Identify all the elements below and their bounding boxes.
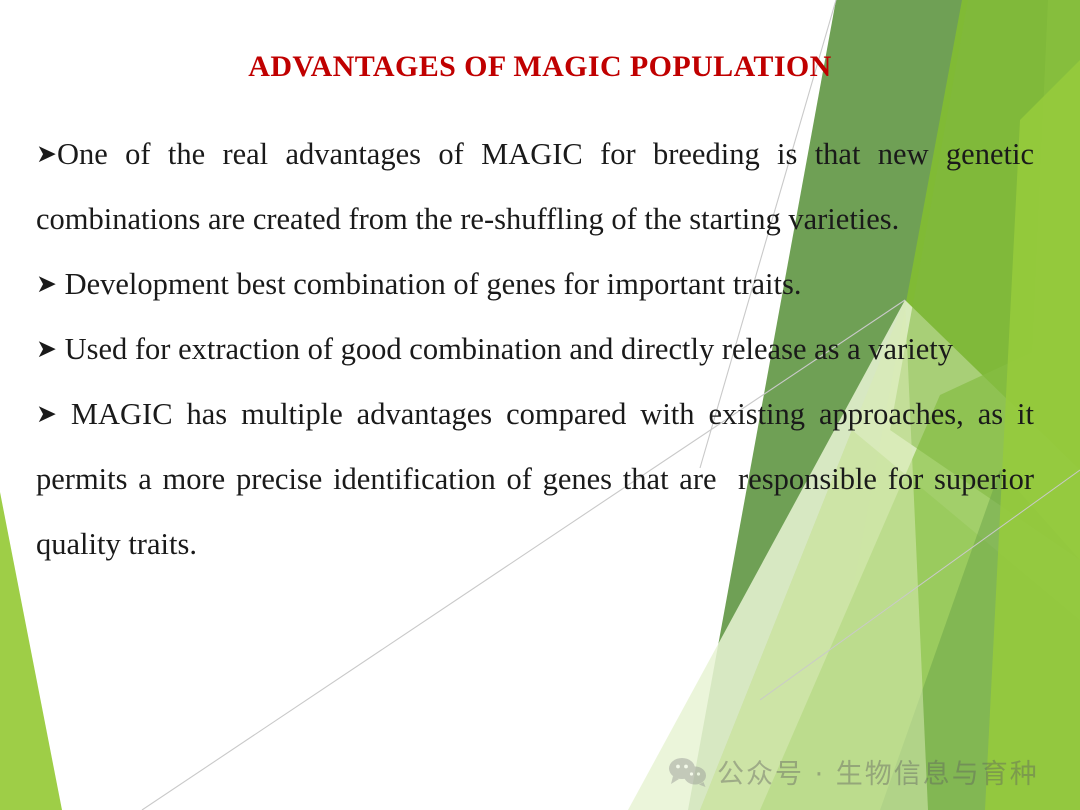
bullet-text-3: Used for extraction of good combination …	[57, 332, 953, 366]
bullet-paragraph-1: ➤One of the real advantages of MAGIC for…	[36, 122, 1034, 252]
slide-canvas: ADVANTAGES OF MAGIC POPULATION ➤One of t…	[0, 0, 1080, 810]
bullet-marker-icon: ➤	[36, 399, 57, 428]
bullet-paragraph-2: ➤ Development best combination of genes …	[36, 252, 1034, 317]
page-title: ADVANTAGES OF MAGIC POPULATION	[0, 50, 1080, 84]
bullet-text-4: MAGIC has multiple advantages compared w…	[36, 397, 1042, 561]
bullet-marker-icon: ➤	[36, 334, 57, 363]
body-content: ➤One of the real advantages of MAGIC for…	[36, 122, 1034, 577]
bullet-paragraph-4: ➤ MAGIC has multiple advantages compared…	[36, 382, 1034, 577]
bullet-text-2: Development best combination of genes fo…	[57, 267, 802, 301]
watermark: 公众号 · 生物信息与育种	[668, 752, 1039, 791]
bullet-text-1: One of the real advantages of MAGIC for …	[36, 137, 1042, 236]
watermark-text: 公众号 · 生物信息与育种	[717, 752, 1039, 791]
wechat-icon	[668, 757, 708, 787]
bullet-paragraph-3: ➤ Used for extraction of good combinatio…	[36, 317, 1034, 382]
bullet-marker-icon: ➤	[36, 269, 57, 298]
bullet-marker-icon: ➤	[36, 139, 57, 168]
